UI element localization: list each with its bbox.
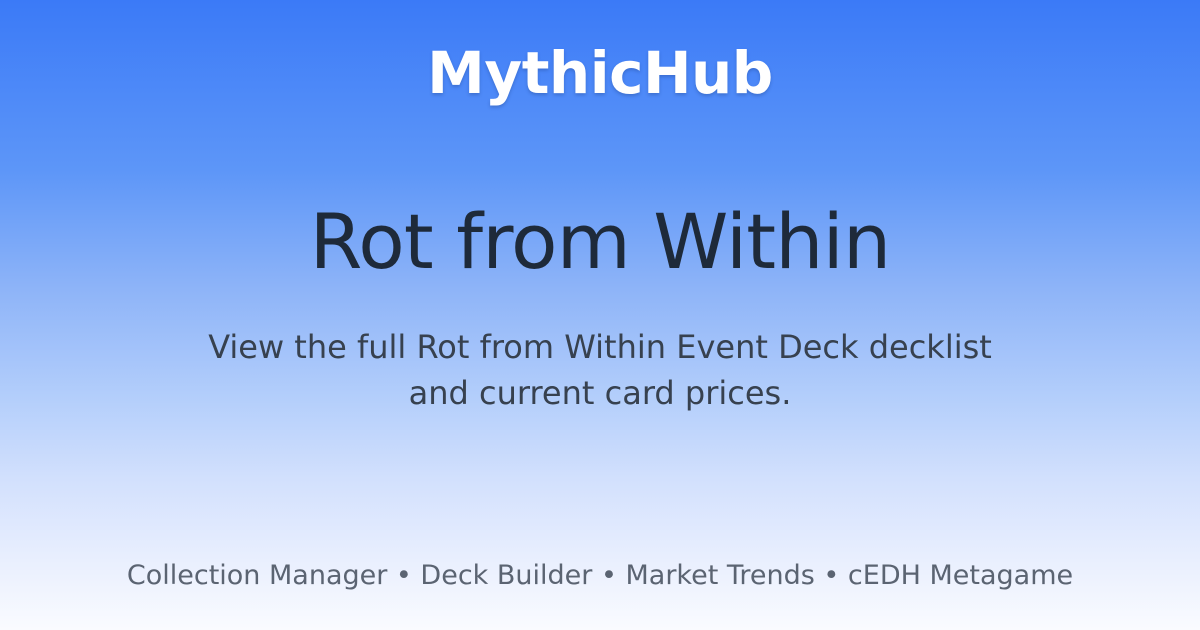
site-logo-wordmark: MythicHub bbox=[427, 44, 773, 102]
og-card: MythicHub Rot from Within View the full … bbox=[0, 0, 1200, 630]
footer-feature-list: Collection Manager • Deck Builder • Mark… bbox=[127, 560, 1073, 592]
hero-content: Rot from Within View the full Rot from W… bbox=[0, 102, 1200, 560]
brand-header: MythicHub bbox=[0, 44, 1200, 102]
page-title: Rot from Within bbox=[310, 201, 891, 283]
footer: Collection Manager • Deck Builder • Mark… bbox=[0, 560, 1200, 592]
page-subtitle: View the full Rot from Within Event Deck… bbox=[190, 325, 1010, 416]
